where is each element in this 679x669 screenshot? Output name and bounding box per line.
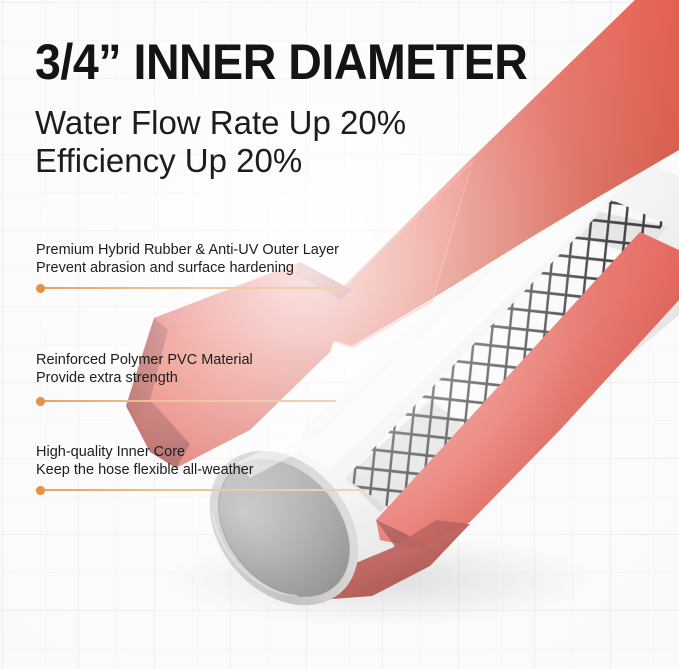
leader-dot-icon bbox=[36, 397, 45, 406]
callout-subtitle: Provide extra strength bbox=[36, 369, 253, 387]
callout-subtitle: Prevent abrasion and surface hardening bbox=[36, 259, 339, 277]
callout-outer-layer: Premium Hybrid Rubber & Anti-UV Outer La… bbox=[36, 241, 339, 277]
page-title: 3/4” INNER DIAMETER bbox=[35, 34, 527, 90]
leader-line-pvc-material bbox=[36, 396, 336, 406]
callout-title: Reinforced Polymer PVC Material bbox=[36, 351, 253, 369]
leader-dot-icon bbox=[36, 486, 45, 495]
subtitle-line-2: Efficiency Up 20% bbox=[35, 142, 406, 180]
leader-line bbox=[45, 489, 366, 491]
leader-line bbox=[45, 400, 336, 402]
leader-line-inner-core bbox=[36, 485, 366, 495]
callout-title: High-quality Inner Core bbox=[36, 443, 254, 461]
callout-pvc-material: Reinforced Polymer PVC Material Provide … bbox=[36, 351, 253, 387]
page-subtitle: Water Flow Rate Up 20% Efficiency Up 20% bbox=[35, 104, 406, 180]
leader-line-outer-layer bbox=[36, 283, 341, 293]
hose-cutaway-illustration bbox=[0, 0, 679, 669]
callout-inner-core: High-quality Inner Core Keep the hose fl… bbox=[36, 443, 254, 479]
callout-title: Premium Hybrid Rubber & Anti-UV Outer La… bbox=[36, 241, 339, 259]
callout-subtitle: Keep the hose flexible all-weather bbox=[36, 461, 254, 479]
leader-dot-icon bbox=[36, 284, 45, 293]
infographic-canvas: 3/4” INNER DIAMETER Water Flow Rate Up 2… bbox=[0, 0, 679, 669]
subtitle-line-1: Water Flow Rate Up 20% bbox=[35, 104, 406, 142]
leader-line bbox=[45, 287, 341, 289]
